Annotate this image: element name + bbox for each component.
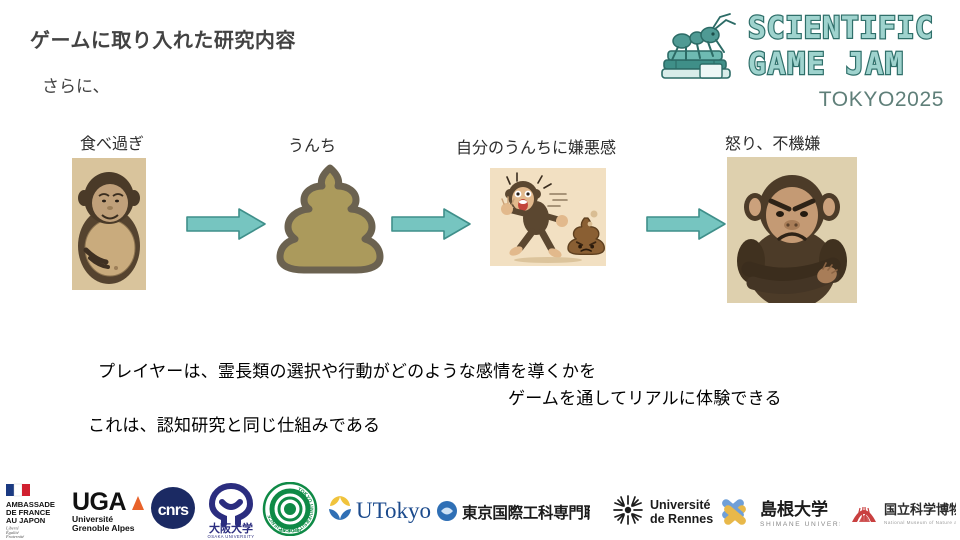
monkey-fleeing-poop-illustration: [490, 168, 606, 266]
svg-text:UGA: UGA: [72, 488, 127, 516]
cnrs-logo: cnrs: [150, 486, 196, 530]
flow-arrow-1: [185, 207, 267, 241]
body-line-1: プレイヤーは、霊長類の選択や行動がどのような感情を導くかを: [98, 357, 596, 382]
body-line-3: これは、認知研究と同じ仕組みである: [88, 411, 380, 436]
logo-line2-text: GAME JAM: [748, 47, 905, 82]
slide-subtitle: さらに、: [42, 72, 110, 97]
event-logo: SCIENTIFIC GAME JAM TOKYO2025: [656, 4, 952, 112]
flow-caption-3: 自分のうんちに嫌悪感: [456, 134, 616, 158]
svg-text:Université: Université: [650, 498, 710, 512]
svg-text:SHIMANE UNIVERSITY: SHIMANE UNIVERSITY: [760, 521, 840, 528]
svg-text:National Museum of Nature and: National Museum of Nature and Science: [884, 520, 956, 525]
utokyo-logo: UTokyo: [326, 492, 432, 526]
svg-text:国立科学博物館: 国立科学博物館: [884, 502, 956, 517]
flow-caption-1: 食べ過ぎ: [80, 130, 144, 154]
osaka-university-logo: 大阪大学 OSAKA UNIVERSITY: [202, 482, 260, 538]
svg-text:SINCE 1881: SINCE 1881: [278, 528, 302, 533]
angry-chimp-illustration: [727, 157, 857, 303]
page-title: ゲームに取り入れた研究内容: [30, 24, 296, 53]
overeating-chimp-illustration: [72, 158, 146, 290]
svg-text:Fraternité: Fraternité: [5, 534, 25, 538]
svg-text:cnrs: cnrs: [158, 502, 189, 519]
universite-grenoble-alpes-logo: UGA Université Grenoble Alpes: [70, 486, 146, 534]
body-line-2: ゲームを通してリアルに体験できる: [508, 384, 782, 409]
svg-text:島根大学: 島根大学: [760, 499, 828, 519]
tokyo-international-institute-of-technology-logo: 東京国際工科専門職大学: [436, 496, 590, 526]
flow-caption-2: うんち: [288, 132, 336, 156]
logo-wordmark: SCIENTIFIC GAME JAM: [746, 6, 952, 82]
flow-arrow-2: [390, 207, 472, 241]
sponsor-logo-bar: AMBASSADE DE FRANCE AU JAPON Liberté Éga…: [0, 478, 960, 540]
svg-text:大阪大学: 大阪大学: [209, 521, 253, 535]
presentation-slide: ゲームに取り入れた研究内容 さらに、: [0, 0, 960, 540]
svg-text:東京国際工科専門職大学: 東京国際工科専門職大学: [462, 503, 590, 522]
universite-de-rennes-logo: Université de Rennes: [610, 492, 722, 528]
svg-text:Grenoble Alpes: Grenoble Alpes: [72, 523, 135, 533]
shimane-university-logo: 島根大学 SHIMANE UNIVERSITY: [716, 492, 840, 530]
svg-text:UTokyo: UTokyo: [356, 498, 431, 523]
flow-arrow-3: [645, 207, 727, 241]
ambassade-de-france-au-japon-logo: AMBASSADE DE FRANCE AU JAPON Liberté Éga…: [4, 480, 70, 538]
flow-caption-4: 怒り、不機嫌: [725, 130, 820, 154]
svg-text:AU JAPON: AU JAPON: [6, 516, 45, 525]
ant-on-books-icon: [656, 8, 748, 82]
poop-icon: [276, 162, 384, 274]
svg-text:de Rennes: de Rennes: [650, 512, 713, 526]
national-museum-of-nature-and-science-logo: 国立科学博物館 National Museum of Nature and Sc…: [848, 494, 956, 528]
logo-line1-text: SCIENTIFIC: [748, 11, 934, 46]
logo-edition-label: TOKYO2025: [819, 88, 944, 112]
tokyo-university-of-science-logo: TOKYO UNIVERSITY OF SCIENCE SINCE 1881: [262, 482, 318, 536]
svg-text:OSAKA UNIVERSITY: OSAKA UNIVERSITY: [208, 534, 255, 538]
